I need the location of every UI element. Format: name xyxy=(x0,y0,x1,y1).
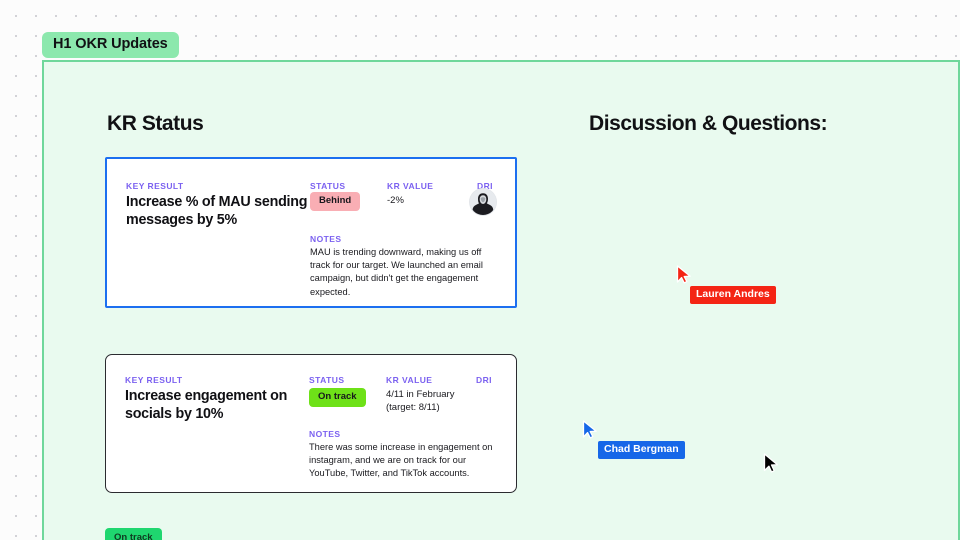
kr-title: Increase % of MAU sending messages by 5% xyxy=(126,193,308,229)
kr-notes: MAU is trending downward, making us off … xyxy=(310,246,498,299)
person-avatar-icon xyxy=(470,189,496,215)
kr-notes: There was some increase in engagement on… xyxy=(309,441,497,481)
label-kr-value: KR VALUE xyxy=(387,181,433,191)
collaborator-name-label: Lauren Andres xyxy=(690,286,776,304)
cursor-pointer-icon xyxy=(582,420,598,439)
label-notes: NOTES xyxy=(310,234,342,244)
clipped-status-badge[interactable]: On track xyxy=(105,528,162,540)
dri-avatar[interactable] xyxy=(470,189,496,215)
label-key-result: KEY RESULT xyxy=(125,375,183,385)
kr-status-heading: KR Status xyxy=(107,112,203,136)
kr-card-selected[interactable]: KEY RESULT STATUS KR VALUE DRI Increase … xyxy=(105,157,517,308)
label-notes: NOTES xyxy=(309,429,341,439)
system-mouse-cursor-icon xyxy=(763,453,779,475)
kr-value: -2% xyxy=(387,195,477,208)
board-title-pill[interactable]: H1 OKR Updates xyxy=(42,32,179,58)
collaborator-name-label: Chad Bergman xyxy=(598,441,685,459)
label-key-result: KEY RESULT xyxy=(126,181,184,191)
collaborator-cursor-lauren: Lauren Andres xyxy=(676,265,776,304)
discussion-questions-heading: Discussion & Questions: xyxy=(589,112,827,136)
label-status: STATUS xyxy=(310,181,345,191)
kr-value: 4/11 in February (target: 8/11) xyxy=(386,389,476,414)
label-kr-value: KR VALUE xyxy=(386,375,432,385)
status-badge[interactable]: On track xyxy=(309,388,366,407)
cursor-pointer-icon xyxy=(676,265,692,284)
kr-card[interactable]: KEY RESULT STATUS KR VALUE DRI Increase … xyxy=(105,354,517,493)
label-dri: DRI xyxy=(476,375,492,385)
collaborator-cursor-chad: Chad Bergman xyxy=(582,420,685,459)
okr-board-frame: KR Status Discussion & Questions: KEY RE… xyxy=(42,60,960,540)
status-badge[interactable]: Behind xyxy=(310,192,360,211)
kr-title: Increase engagement on socials by 10% xyxy=(125,387,307,423)
label-status: STATUS xyxy=(309,375,344,385)
